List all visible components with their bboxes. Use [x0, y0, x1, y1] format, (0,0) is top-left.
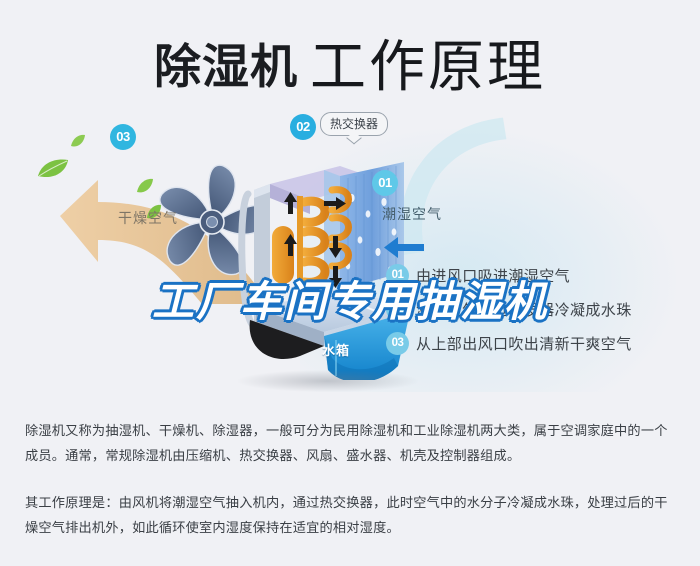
diagram-badge-01: 01 — [372, 170, 398, 196]
machine-shadow — [238, 370, 418, 392]
diagram-badge-03: 03 — [110, 124, 136, 150]
dry-air-label: 干燥空气 — [118, 208, 178, 228]
page-title: 除湿机工作原理 — [0, 22, 700, 103]
humid-air-label: 潮湿空气 — [382, 204, 442, 224]
paragraph-2: 其工作原理是：由风机将潮湿空气抽入机内，通过热交换器，此时空气中的水分子冷凝成水… — [25, 490, 680, 540]
diagram-badge-02: 02 — [290, 114, 316, 140]
water-tank-label: 水箱 — [322, 340, 350, 359]
step-label: 从上部出风口吹出清新干爽空气 — [416, 333, 632, 354]
step-number: 03 — [386, 332, 409, 355]
leaf-icon — [70, 134, 86, 148]
step-number: 01 — [386, 264, 409, 287]
step-label: 由进风口吸进潮湿空气 — [416, 265, 570, 286]
body-copy: 除湿机又称为抽湿机、干燥机、除湿器，一般可分为民用除湿机和工业除湿机两大类，属于… — [25, 418, 680, 540]
poster-page: 除湿机工作原理 — [0, 0, 700, 566]
step-list: 01 由进风口吸进潮湿空气 02 潮湿空气经过蒸发器冷凝成水珠 03 从上部出风… — [386, 258, 686, 360]
paragraph-1: 除湿机又称为抽湿机、干燥机、除湿器，一般可分为民用除湿机和工业除湿机两大类，属于… — [25, 418, 680, 468]
list-item: 03 从上部出风口吹出清新干爽空气 — [386, 326, 686, 360]
list-item: 02 潮湿空气经过蒸发器冷凝成水珠 — [386, 292, 686, 326]
list-item: 01 由进风口吸进潮湿空气 — [386, 258, 686, 292]
title-part-1: 除湿机 — [154, 40, 298, 93]
title-part-2: 工作原理 — [310, 35, 546, 98]
heat-exchanger-callout: 热交换器 — [320, 112, 388, 136]
step-label: 潮湿空气经过蒸发器冷凝成水珠 — [416, 299, 632, 320]
leaf-icon — [36, 158, 70, 180]
step-number: 02 — [386, 298, 409, 321]
